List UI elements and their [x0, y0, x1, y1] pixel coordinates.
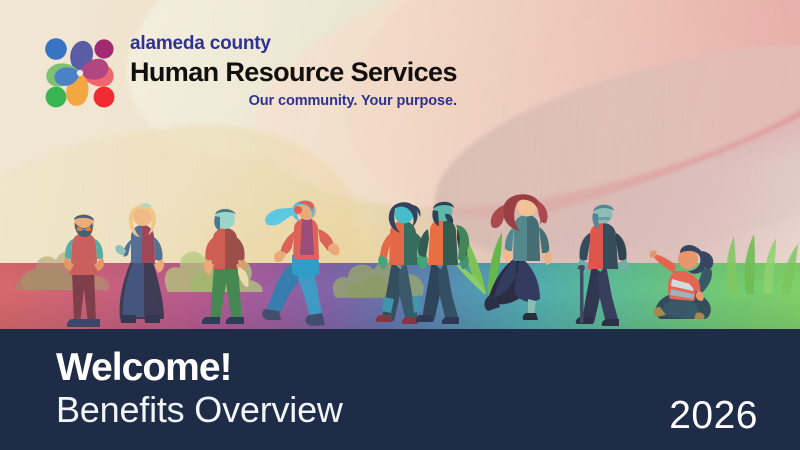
banner-year: 2026 — [669, 394, 758, 438]
figure-woman-long-dress-gesturing — [110, 203, 176, 329]
logo-circle-top-right — [94, 39, 113, 58]
figure-woman-jogging-headphones — [262, 201, 350, 329]
figure-elderly-man-with-cane — [566, 203, 638, 329]
logo-title-line: Human Resource Services — [130, 57, 457, 89]
figure-woman-flowing-hair-skirt — [486, 195, 568, 329]
logo-county-line: alameda county — [130, 34, 457, 54]
figure-person-doing-yoga — [650, 241, 734, 327]
logo-block: alameda county Human Resource Services O… — [40, 30, 457, 113]
logo-center-dot — [77, 70, 83, 76]
welcome-heading: Welcome! — [56, 348, 343, 388]
logo-circle-bottom-right — [94, 87, 115, 108]
logo-tagline: Our community. Your purpose. — [130, 93, 457, 109]
alameda-county-hrs-pinwheel-logo-icon — [40, 33, 120, 113]
slide-canvas: alameda county Human Resource Services O… — [0, 0, 800, 450]
banner-subtitle: Benefits Overview — [56, 390, 343, 430]
bottom-banner: Welcome! Benefits Overview 2026 — [0, 329, 800, 450]
logo-circle-bottom-left — [46, 87, 67, 108]
banner-title-group: Welcome! Benefits Overview — [56, 348, 343, 430]
logo-wordmark: alameda county Human Resource Services O… — [130, 30, 457, 109]
figure-bearded-man-hands-on-hips — [52, 211, 118, 329]
figure-man-walking-with-bag — [194, 207, 256, 329]
figure-man-with-backpack-walking — [412, 201, 474, 329]
logo-circle-top-left — [45, 38, 67, 60]
